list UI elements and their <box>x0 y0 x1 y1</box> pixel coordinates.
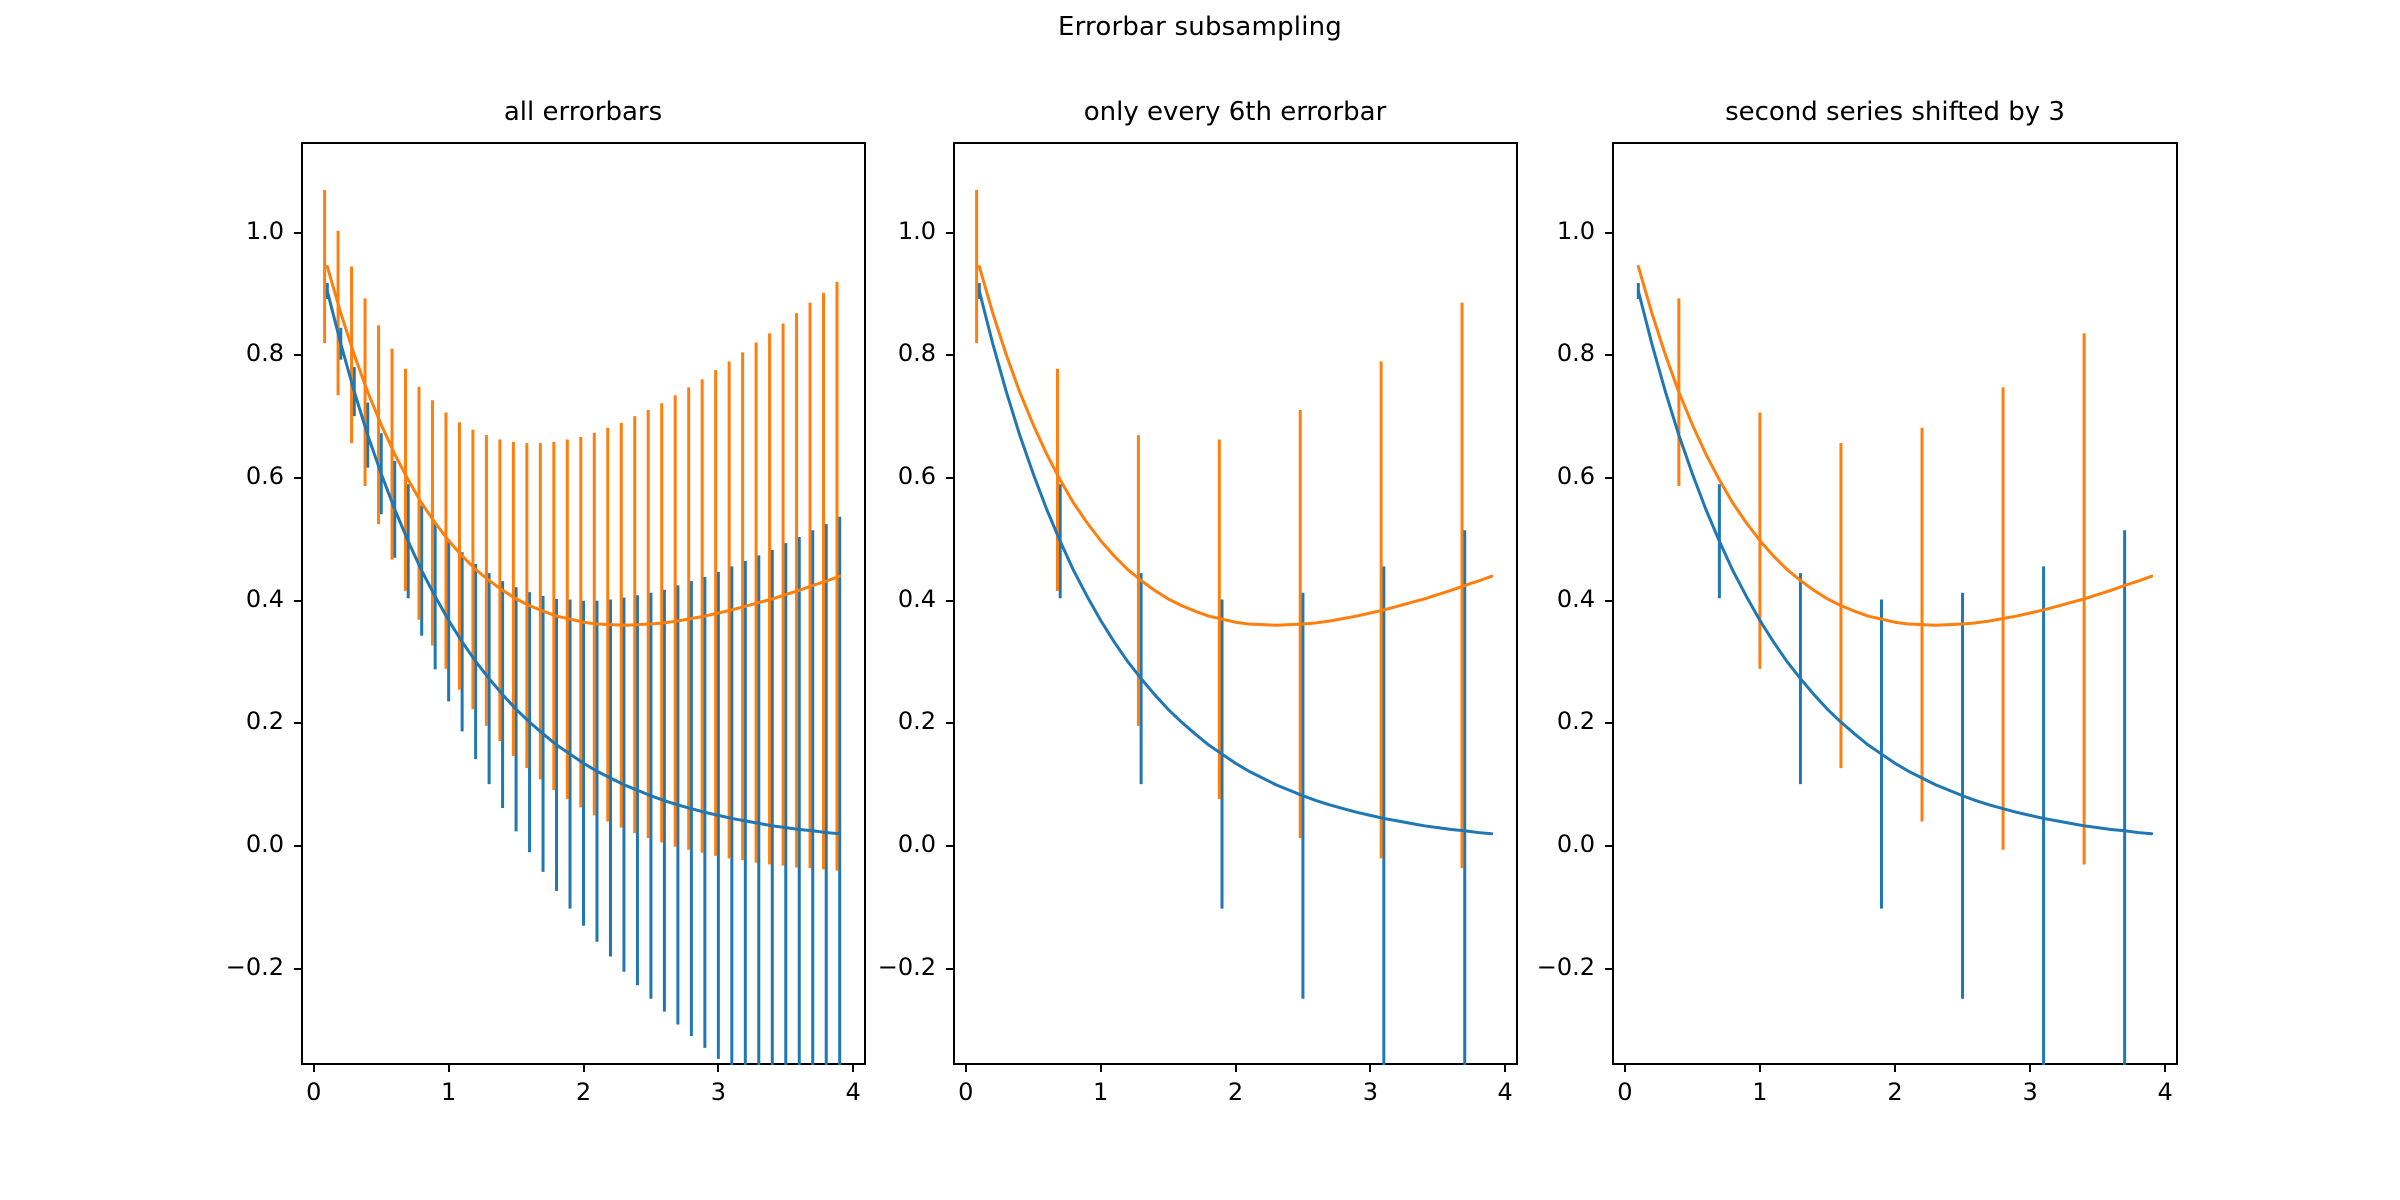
matplotlib-figure: Errorbar subsampling all errorbars −0.20… <box>0 0 2400 1200</box>
y-tick-mark <box>1605 968 1612 970</box>
y-tick-label: −0.2 <box>1395 953 1595 981</box>
y-tick-label: 0.8 <box>1395 339 1595 367</box>
y-tick-label: 0.2 <box>1395 707 1595 735</box>
x-tick-mark <box>2164 1065 2166 1072</box>
y-tick-label: 0.0 <box>1395 830 1595 858</box>
x-tick-label: 4 <box>2065 1078 2265 1106</box>
y-tick-mark <box>1605 232 1612 234</box>
x-tick-mark <box>2029 1065 2031 1072</box>
y-tick-label: 0.6 <box>1395 462 1595 490</box>
y-tick-mark <box>1605 477 1612 479</box>
y-tick-mark <box>1605 354 1612 356</box>
y-tick-label: 0.4 <box>1395 585 1595 613</box>
subplot-title-2: second series shifted by 3 <box>1495 97 2295 127</box>
plot-area-2 <box>1612 142 2178 1065</box>
x-tick-mark <box>1624 1065 1626 1072</box>
y-tick-mark <box>1605 600 1612 602</box>
y-tick-label: 1.0 <box>1395 217 1595 245</box>
y-tick-mark <box>1605 845 1612 847</box>
subplot-panel-2: second series shifted by 3 −0.20.00.20.4… <box>0 0 2400 1200</box>
y-tick-mark <box>1605 722 1612 724</box>
x-tick-mark <box>1759 1065 1761 1072</box>
x-tick-mark <box>1894 1065 1896 1072</box>
